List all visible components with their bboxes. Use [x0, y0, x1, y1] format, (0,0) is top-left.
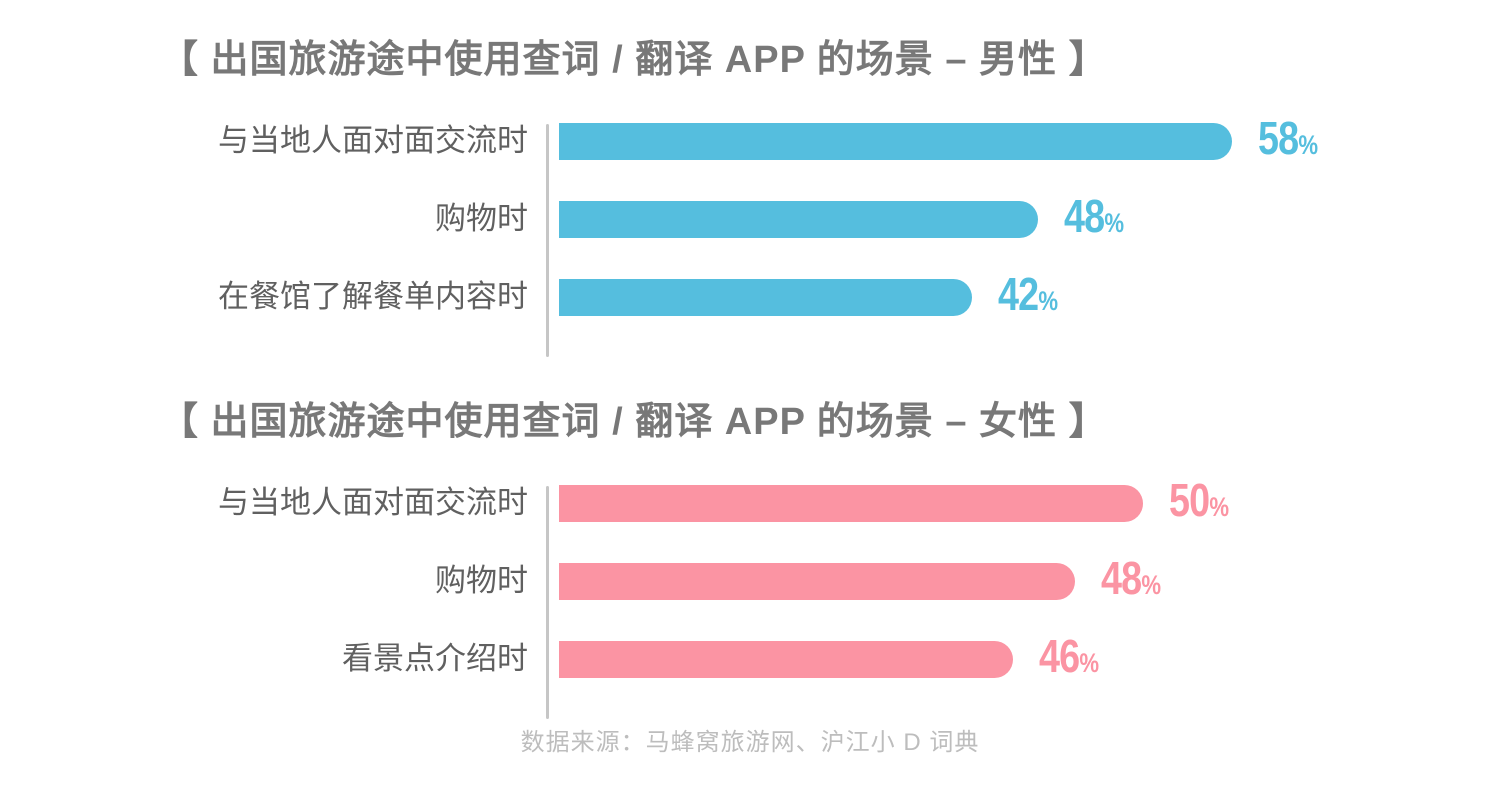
bar-fill: [559, 279, 972, 316]
bar-value-number: 58: [1258, 112, 1298, 164]
bar-track: [559, 563, 1075, 600]
bar-value-label: 48%: [1064, 190, 1124, 249]
bar-value-unit: %: [1209, 492, 1229, 522]
bar-chart-male: 与当地人面对面交流时 58% 购物时 48% 在餐馆了解餐单内容时 42%: [0, 118, 1500, 361]
bar-track: [559, 123, 1232, 160]
bar-fill: [559, 485, 1143, 522]
category-label: 在餐馆了解餐单内容时: [100, 274, 528, 320]
bar-value-unit: %: [1104, 208, 1124, 238]
bar-row: 购物时 48%: [0, 558, 1500, 636]
bar-value-label: 48%: [1101, 552, 1161, 611]
category-label: 购物时: [100, 558, 528, 604]
section-title-male: 【 出国旅游途中使用查词 / 翻译 APP 的场景 – 男性 】: [160, 34, 1108, 86]
bar-value-unit: %: [1141, 570, 1161, 600]
bar-value-number: 48: [1064, 190, 1104, 242]
bar-fill: [559, 123, 1232, 160]
category-label: 看景点介绍时: [100, 636, 528, 682]
bar-value-number: 46: [1039, 630, 1079, 682]
bar-fill: [559, 201, 1038, 238]
bar-value-label: 46%: [1039, 630, 1099, 689]
bar-value-label: 58%: [1258, 112, 1318, 171]
section-title-female: 【 出国旅游途中使用查词 / 翻译 APP 的场景 – 女性 】: [160, 396, 1108, 448]
category-label: 与当地人面对面交流时: [100, 480, 528, 526]
category-label: 与当地人面对面交流时: [100, 118, 528, 164]
bar-row: 看景点介绍时 46%: [0, 636, 1500, 714]
bar-fill: [559, 563, 1075, 600]
bar-chart-female: 与当地人面对面交流时 50% 购物时 48% 看景点介绍时 46%: [0, 480, 1500, 723]
bar-track: [559, 201, 1038, 238]
infographic-canvas: 【 出国旅游途中使用查词 / 翻译 APP 的场景 – 男性 】 与当地人面对面…: [0, 0, 1500, 810]
bar-row: 与当地人面对面交流时 58%: [0, 118, 1500, 196]
category-label: 购物时: [100, 196, 528, 242]
bar-track: [559, 279, 972, 316]
bar-value-label: 42%: [998, 268, 1058, 327]
bar-value-number: 42: [998, 268, 1038, 320]
bar-value-label: 50%: [1169, 474, 1229, 533]
bar-row: 在餐馆了解餐单内容时 42%: [0, 274, 1500, 352]
source-note: 数据来源：马蜂窝旅游网、沪江小 D 词典: [0, 722, 1500, 757]
bar-track: [559, 641, 1013, 678]
bar-value-number: 48: [1101, 552, 1141, 604]
bar-value-unit: %: [1079, 648, 1099, 678]
bar-value-number: 50: [1169, 474, 1209, 526]
bar-value-unit: %: [1298, 130, 1318, 160]
bar-track: [559, 485, 1143, 522]
bar-fill: [559, 641, 1013, 678]
bar-value-unit: %: [1038, 286, 1058, 316]
bar-row: 购物时 48%: [0, 196, 1500, 274]
bar-row: 与当地人面对面交流时 50%: [0, 480, 1500, 558]
